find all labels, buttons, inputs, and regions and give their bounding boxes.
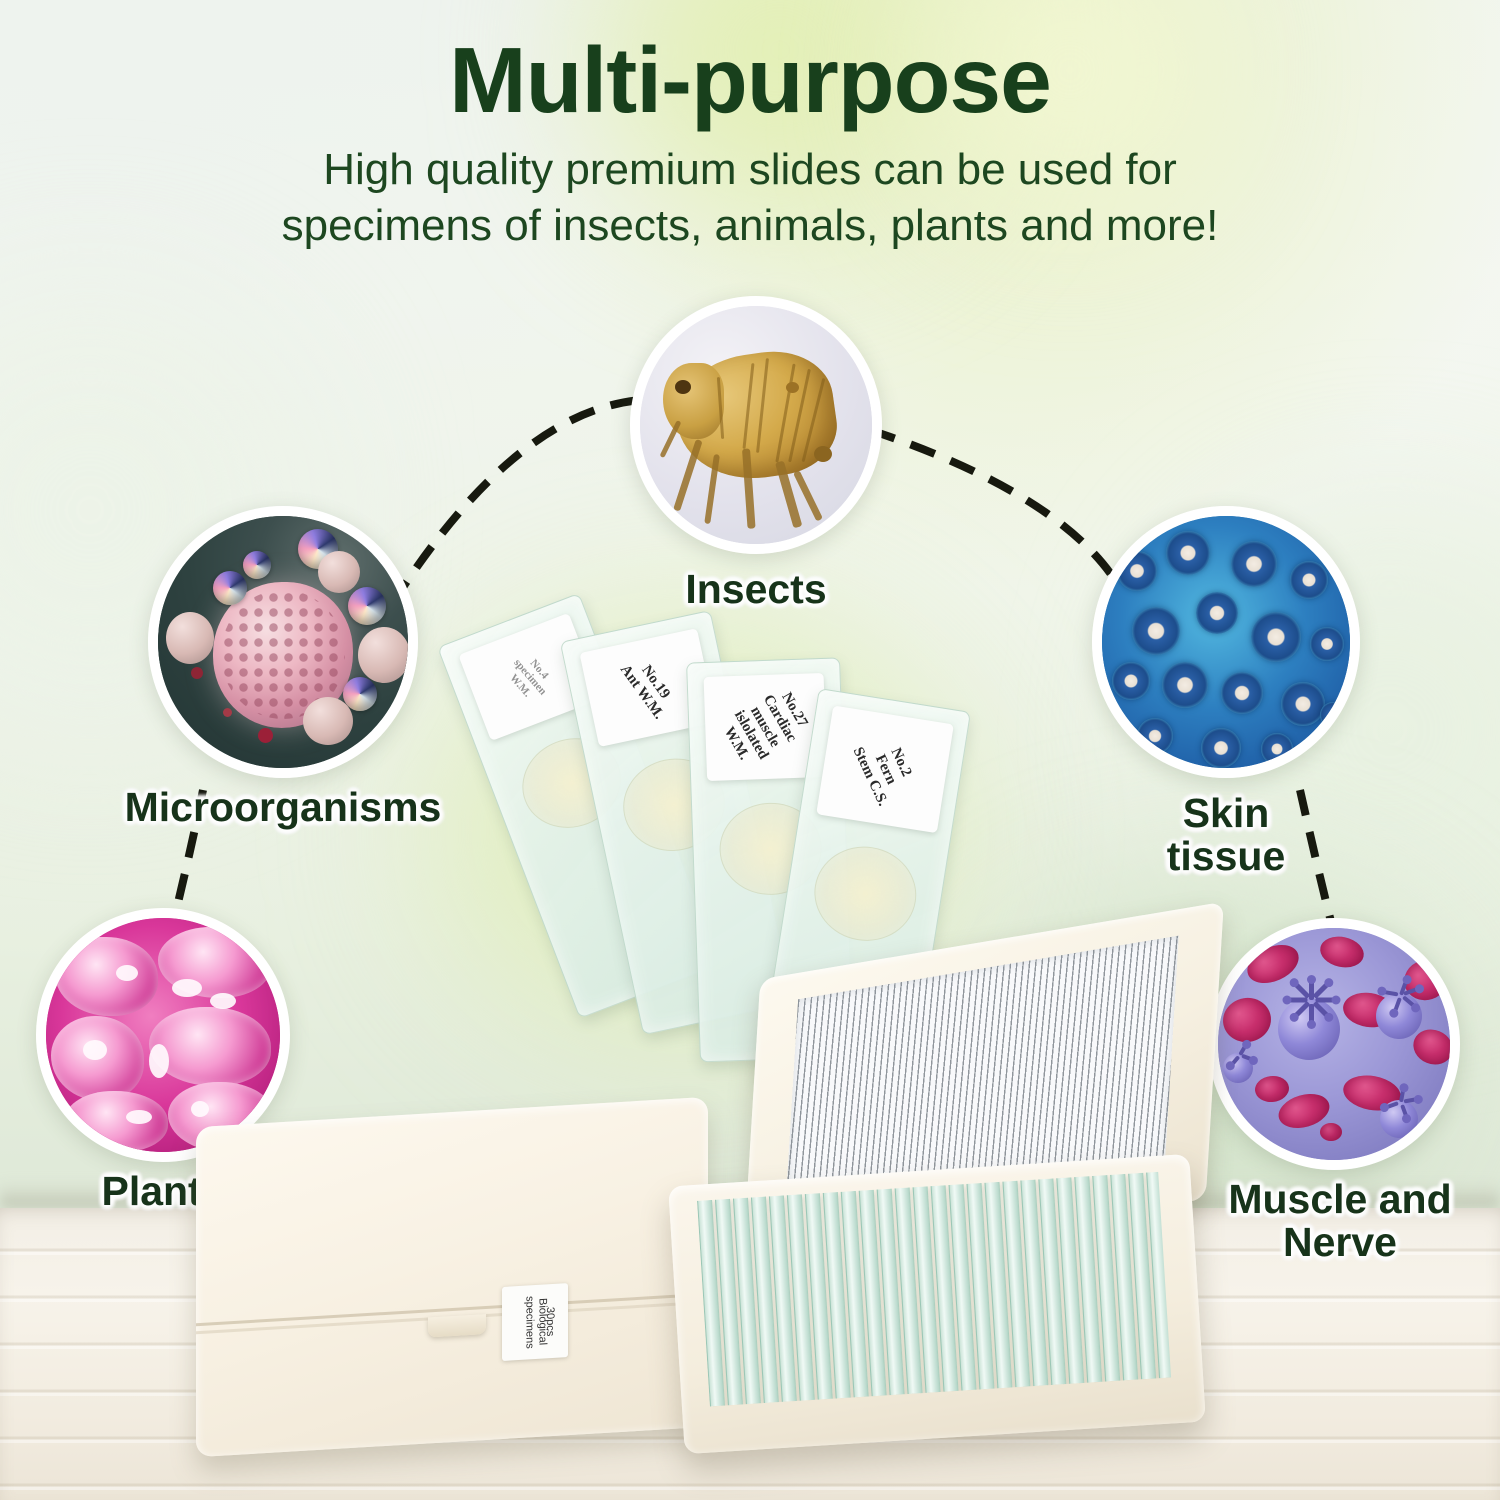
skin-tissue-image xyxy=(1092,506,1360,778)
closed-box-label-line-2: 30pcs xyxy=(543,1306,556,1336)
infographic-canvas: Multi-purpose High quality premium slide… xyxy=(0,0,1500,1500)
virus-particle xyxy=(1278,998,1340,1060)
slide-2-label-text: No.19 Ant W.M. xyxy=(616,652,680,723)
subtitle-line-1: High quality premium slides can be used … xyxy=(0,143,1500,197)
box-tray xyxy=(668,1154,1206,1454)
slides-stack xyxy=(697,1172,1171,1407)
callout-label-muscle-nerve: Muscle and Nerve xyxy=(1190,1178,1490,1265)
slide-3-label-text: No.27 Cardiac muscle islolated W.M. xyxy=(716,683,815,771)
slide-1-label-text: No.4 specimen W.M. xyxy=(502,648,558,705)
callout-label-insects: Insects xyxy=(606,568,906,611)
muscle-nerve-image xyxy=(1208,918,1460,1170)
subtitle-line-2: specimens of insects, animals, plants an… xyxy=(0,199,1500,253)
page-title: Multi-purpose xyxy=(0,34,1500,127)
insect-image xyxy=(630,296,882,554)
callout-label-skin-tissue: Skin tissue xyxy=(1106,792,1346,879)
microorganism-image xyxy=(148,506,418,778)
closed-box-label-count: 30pcs xyxy=(502,1283,568,1361)
slide-4-label-tag: No.2 Fern Stem C.S. xyxy=(816,705,954,833)
callout-label-microorganisms: Microorganisms xyxy=(58,786,508,829)
headline-block: Multi-purpose High quality premium slide… xyxy=(0,34,1500,252)
closed-slide-box: Biological specimens 30pcs xyxy=(196,1097,708,1457)
slide-4-label-text: No.2 Fern Stem C.S. xyxy=(849,730,921,808)
